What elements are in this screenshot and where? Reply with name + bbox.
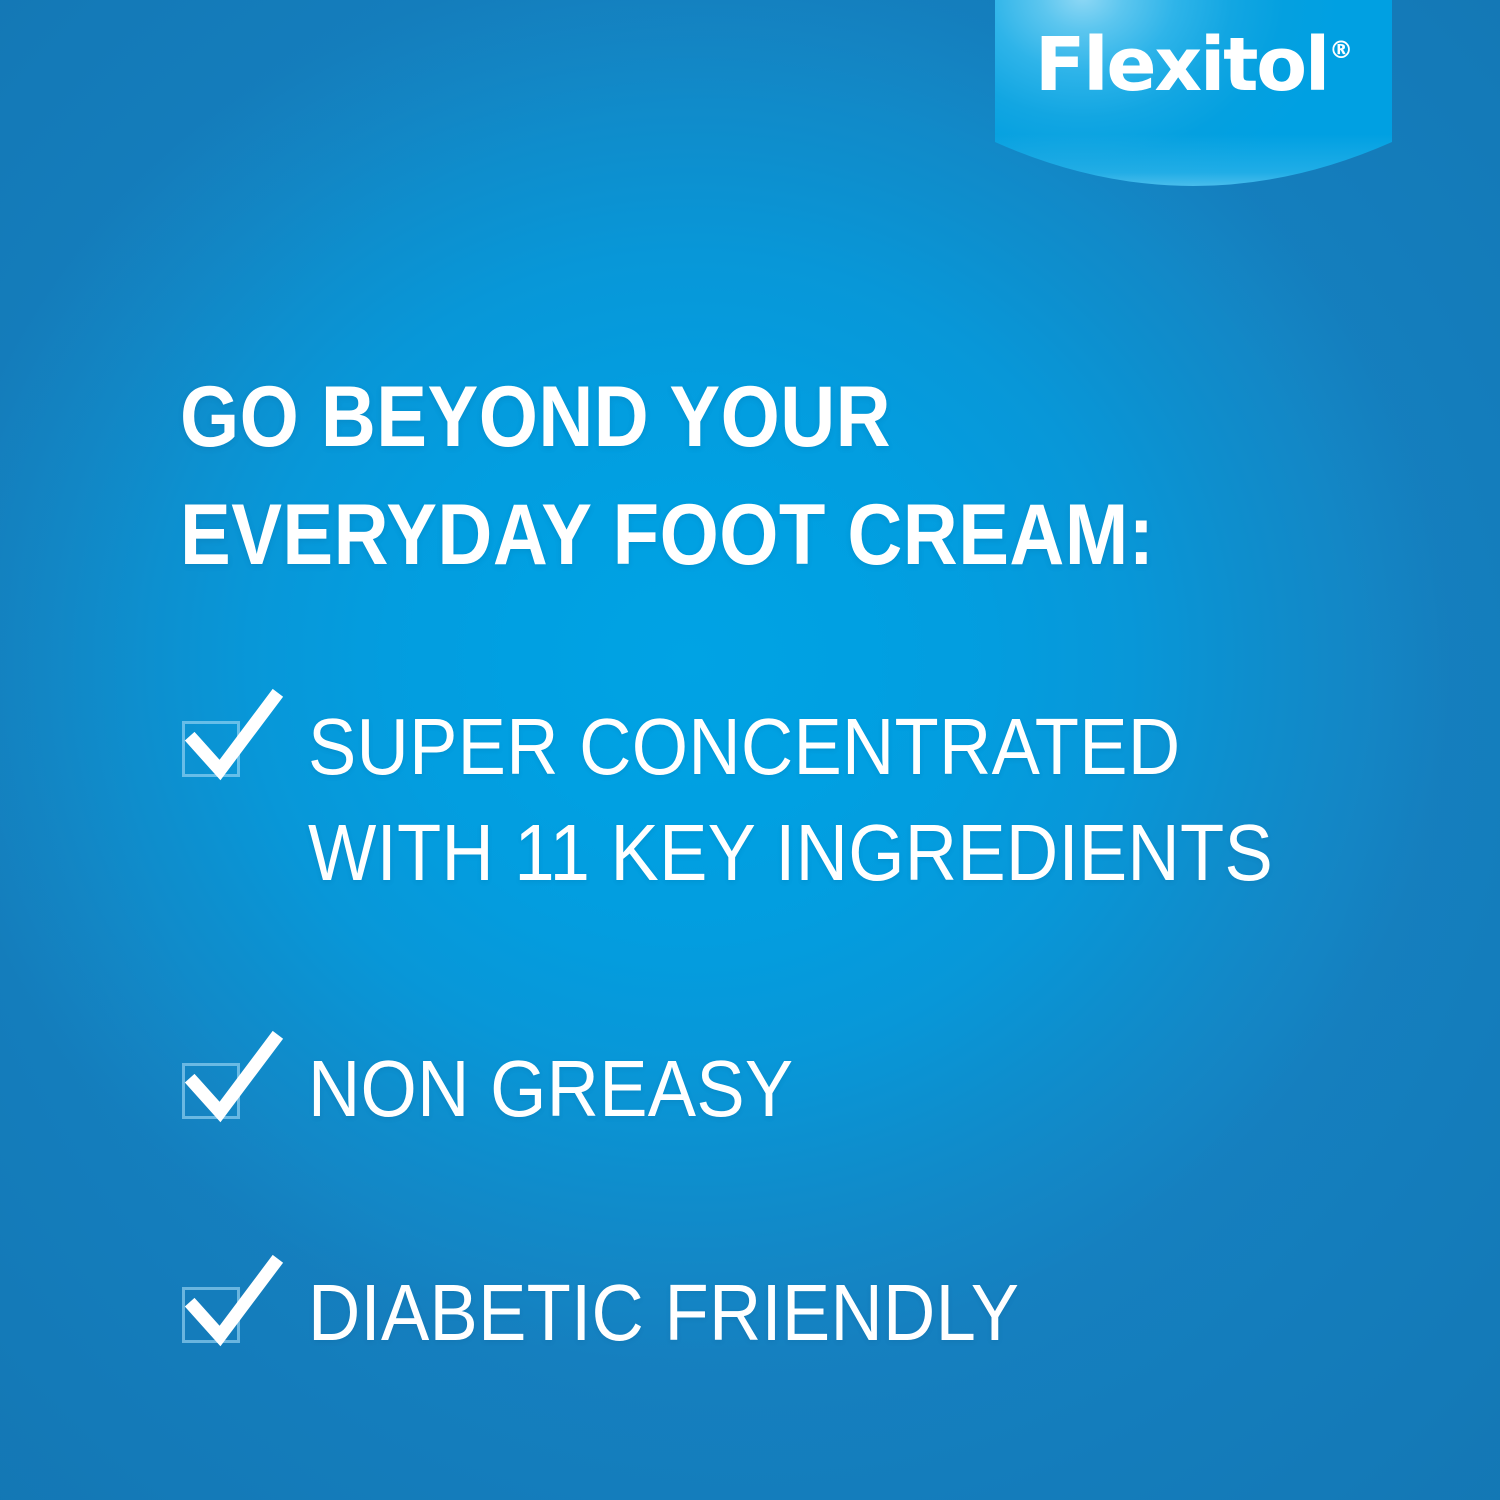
headline-line-2: EVERYDAY FOOT CREAM: bbox=[180, 476, 1277, 594]
brand-wordmark: Flexitol® bbox=[995, 28, 1392, 102]
list-item-label-line-1: NON GREASY bbox=[308, 1036, 1360, 1142]
benefits-list: SUPER CONCENTRATED WITH 11 KEY INGREDIEN… bbox=[180, 694, 1470, 1366]
checkbox-outline bbox=[182, 1287, 240, 1343]
list-item-label: DIABETIC FRIENDLY bbox=[308, 1260, 1360, 1366]
list-item: SUPER CONCENTRATED WITH 11 KEY INGREDIEN… bbox=[180, 694, 1470, 906]
list-item-label-line-1: SUPER CONCENTRATED bbox=[308, 694, 1360, 800]
list-item-label-line-2: WITH 11 KEY INGREDIENTS bbox=[308, 800, 1360, 906]
list-item-label: SUPER CONCENTRATED WITH 11 KEY INGREDIEN… bbox=[308, 694, 1360, 906]
list-item: DIABETIC FRIENDLY bbox=[180, 1260, 1470, 1366]
brand-name-text: Flexitol bbox=[1035, 22, 1328, 108]
checkbox-outline bbox=[182, 1063, 240, 1119]
list-item-label: NON GREASY bbox=[308, 1036, 1360, 1142]
list-item: NON GREASY bbox=[180, 1036, 1470, 1142]
checkbox-outline bbox=[182, 721, 240, 777]
page-title: GO BEYOND YOUR EVERYDAY FOOT CREAM: bbox=[180, 358, 1277, 594]
headline-line-1: GO BEYOND YOUR bbox=[180, 358, 1277, 476]
product-benefits-banner: Flexitol® GO BEYOND YOUR EVERYDAY FOOT C… bbox=[0, 0, 1500, 1500]
registered-trademark-icon: ® bbox=[1329, 36, 1353, 64]
list-item-label-line-1: DIABETIC FRIENDLY bbox=[308, 1260, 1360, 1366]
